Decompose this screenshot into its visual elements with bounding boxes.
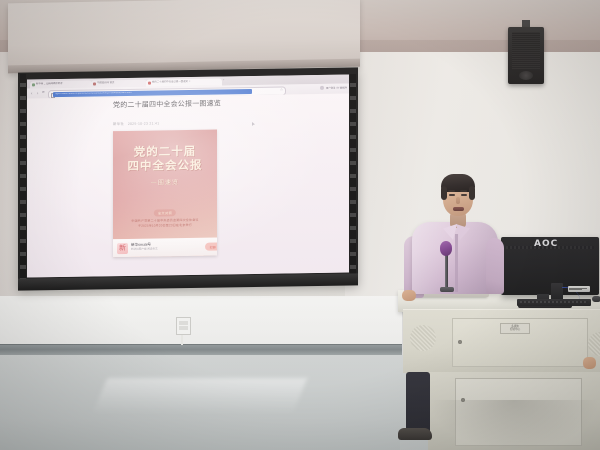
speaker-right-arm xyxy=(486,238,504,294)
keyboard[interactable] xyxy=(517,299,591,306)
microphone-stand-stem xyxy=(445,252,448,290)
wall-speaker xyxy=(508,27,544,84)
speaker-nose xyxy=(456,197,460,204)
speaker-eyebrow-left xyxy=(448,190,455,192)
shirt-placket xyxy=(455,234,458,292)
microphone-windscreen-icon xyxy=(440,241,452,256)
monitor-spec-label xyxy=(568,286,590,292)
projector-glow xyxy=(27,74,349,277)
lower-wall-band xyxy=(0,418,400,450)
speaker-eye-left xyxy=(449,194,455,196)
speaker-driver-icon xyxy=(519,71,533,80)
speaker-hair-side-left xyxy=(441,186,447,200)
speaker-mouth xyxy=(453,207,464,211)
speaker-eyebrow-right xyxy=(460,190,467,192)
speaker-eye-right xyxy=(461,194,467,196)
monitor-brand-logo: AOC xyxy=(534,240,558,249)
floor-reflection xyxy=(93,378,308,414)
speaker-shoe xyxy=(398,428,432,440)
whiteboard-marker-tray xyxy=(0,345,402,355)
microphone-stand-base xyxy=(440,287,454,292)
podium-plate-line-2: 控制中心 xyxy=(510,329,520,332)
podium-speaker-grille-left-icon xyxy=(410,325,436,351)
lecture-room-photo: 新华网 _ 让新闻离你更近 中国政府网 首页 党的二十届四中全会公报一图速览 ×… xyxy=(0,0,600,450)
cabinet-lock-icon[interactable] xyxy=(458,340,462,344)
mouse[interactable] xyxy=(592,296,600,302)
podium-shadow xyxy=(428,400,600,450)
projected-screen-surface: 新华网 _ 让新闻离你更近 中国政府网 首页 党的二十届四中全会公报一图速览 ×… xyxy=(27,74,349,277)
screen-tension-tabs-left xyxy=(20,74,26,282)
second-person-hand xyxy=(583,357,596,369)
speaker-grille-icon xyxy=(512,32,540,70)
speaker-hair-side-right xyxy=(469,186,475,200)
speaker-hand xyxy=(402,290,416,301)
light-switch-plate[interactable] xyxy=(176,317,191,335)
screen-tension-tabs-right xyxy=(350,74,356,282)
speaker-leg xyxy=(406,372,430,436)
podium-label-plate: 多媒体 控制中心 xyxy=(500,323,530,334)
